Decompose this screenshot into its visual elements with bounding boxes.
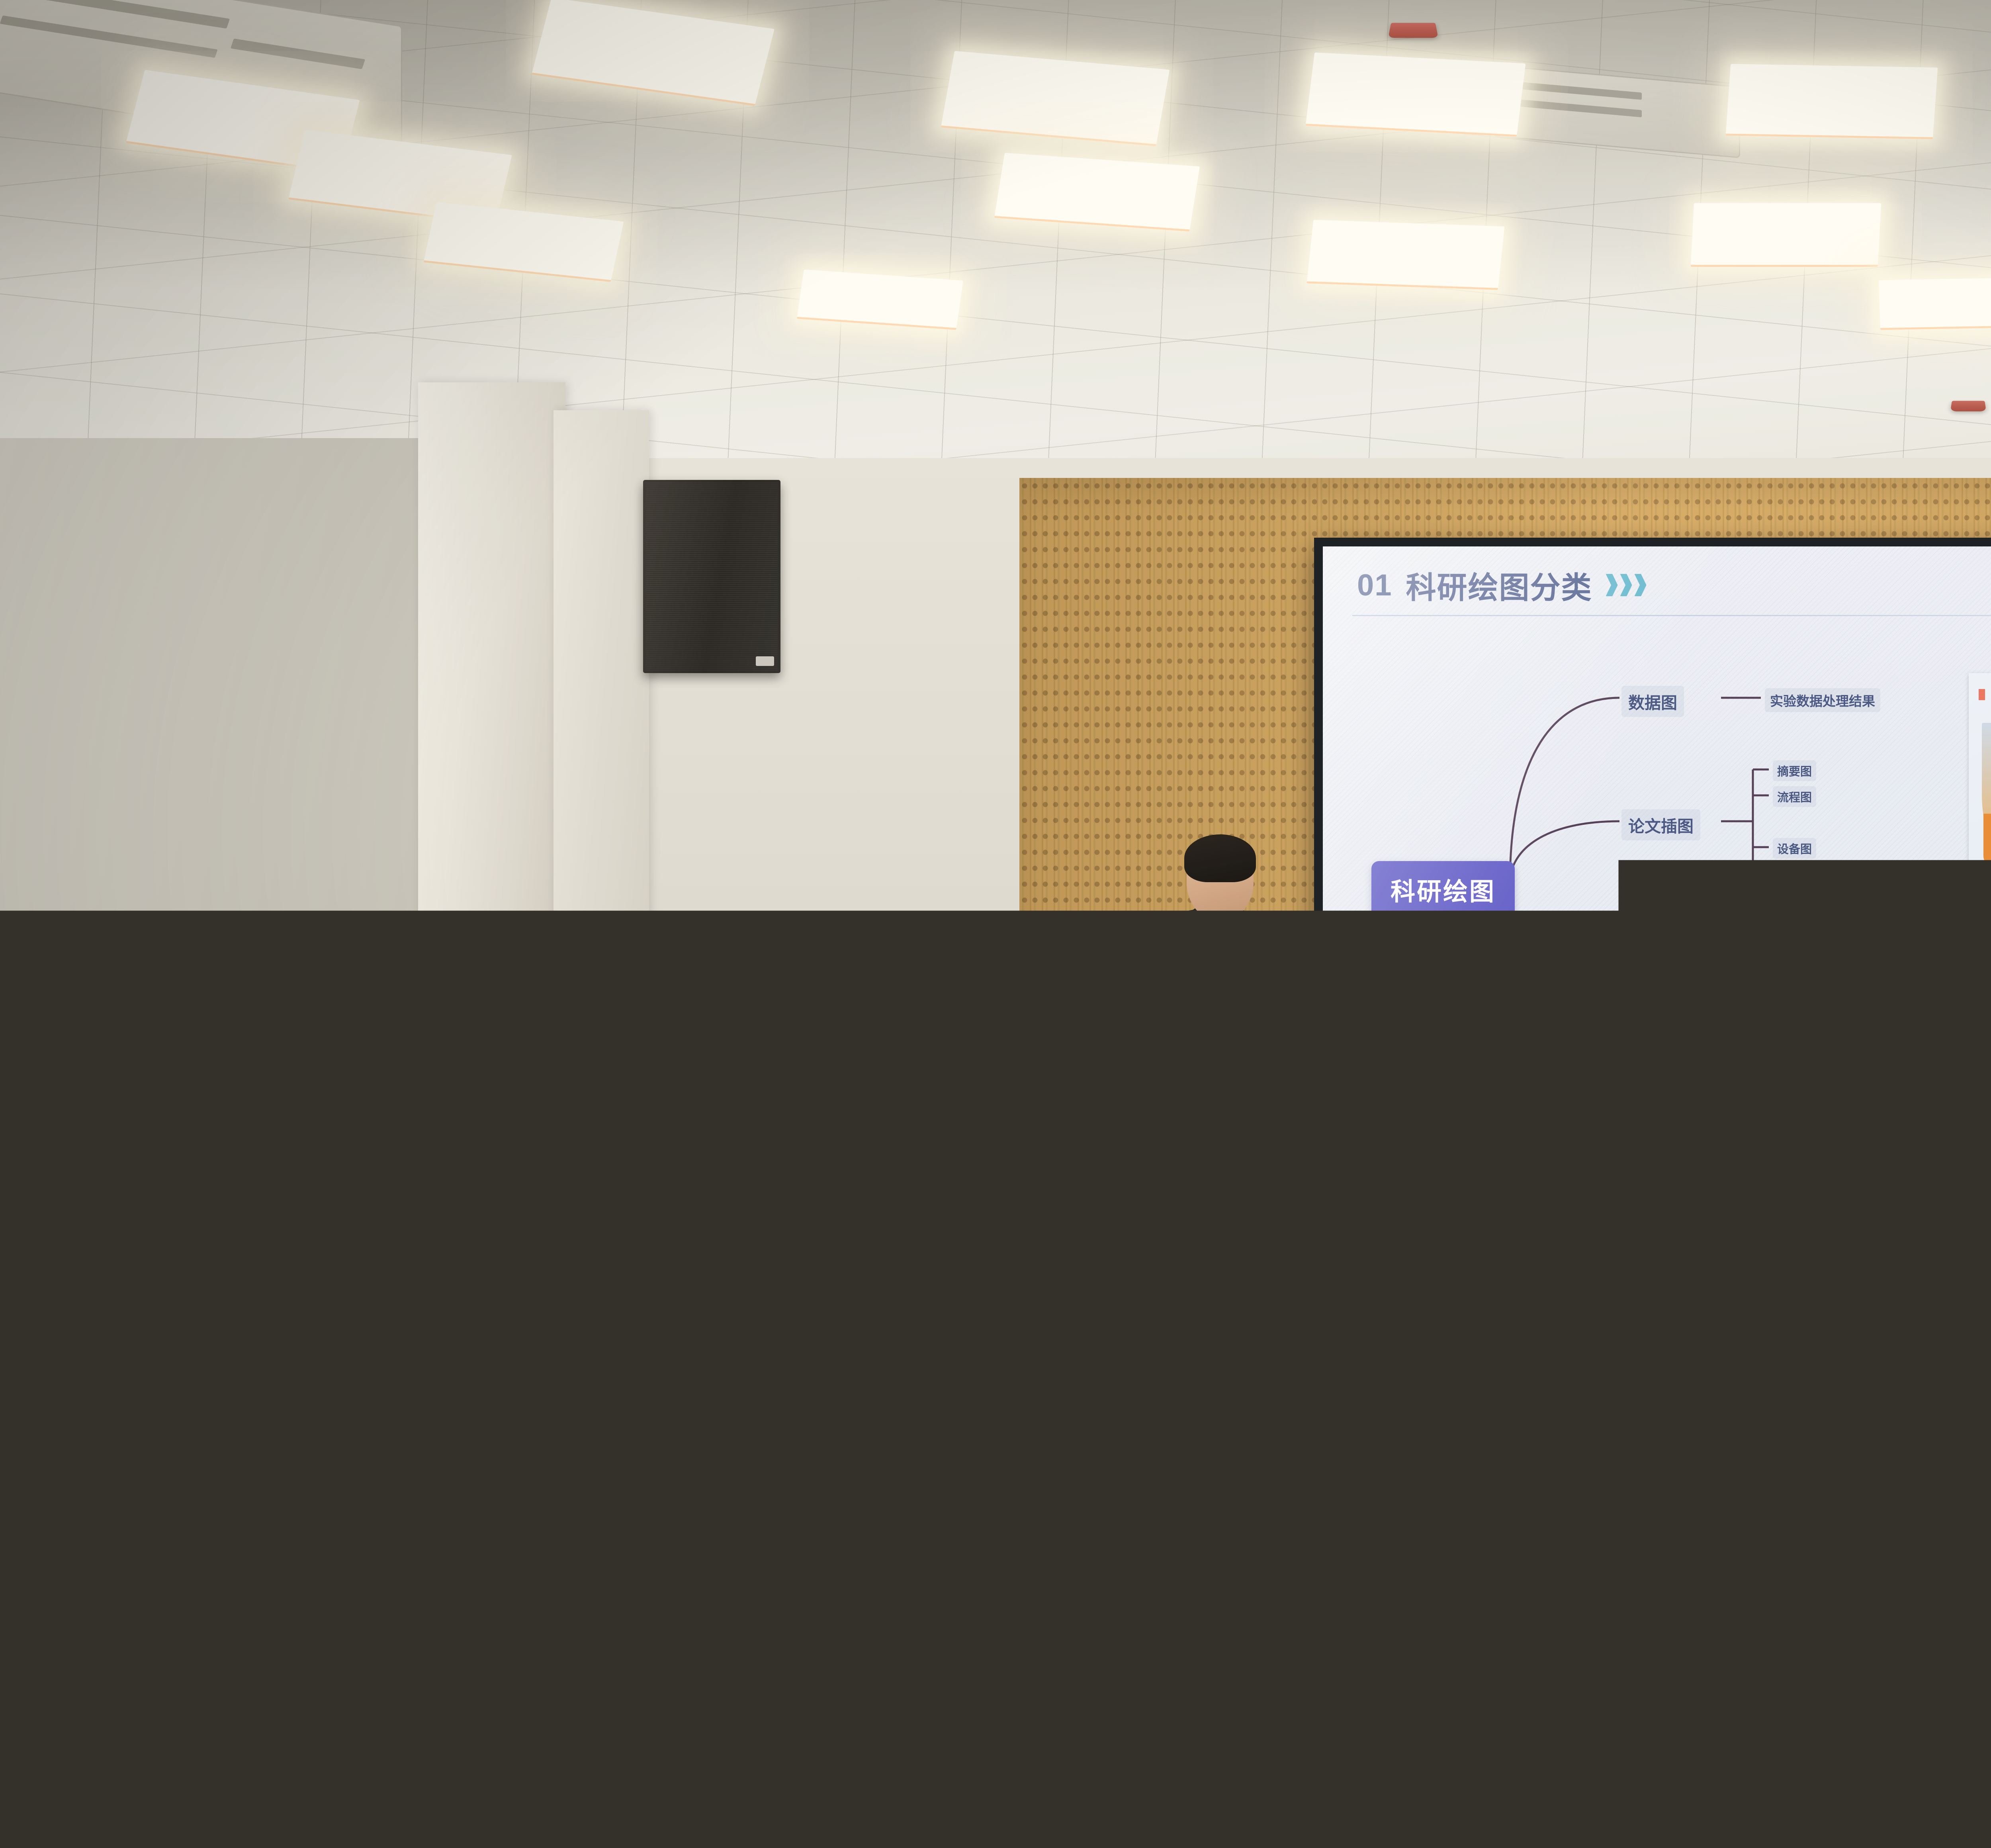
audience-head: [1037, 1088, 1107, 1188]
audience-torso: [1402, 1171, 1541, 1322]
audience-head: [309, 1490, 448, 1661]
mindmap-branch-2: 期刊封面: [1621, 965, 1700, 996]
presenter: [1107, 816, 1330, 1039]
audience-head: [182, 1251, 286, 1398]
audience-head: [36, 1450, 163, 1617]
mindmap-root-node: 科研绘图: [1371, 861, 1515, 918]
mindmap-branch-2-child-2: RSC: [1773, 967, 1806, 985]
audience-head: [1436, 1072, 1507, 1173]
audience-head: [1841, 1120, 1915, 1225]
journal-title-line2: ENERGY: [1964, 945, 1991, 958]
audience-head: [1414, 1322, 1537, 1501]
av-equipment-box-2: [778, 1064, 816, 1085]
speaker-brand-badge: [756, 656, 774, 666]
audience-member-front: [1573, 1362, 1828, 1848]
audience-member-front: [749, 1306, 980, 1744]
mindmap-branch-0: 数据图: [1621, 686, 1684, 717]
audience-member: [876, 1051, 1007, 1290]
mindmap-branch-1-child-1: 流程图: [1773, 786, 1816, 807]
mindmap-leaf-0: 实验数据处理结果: [1765, 688, 1880, 712]
wall-mounted-speaker: [643, 480, 780, 673]
audience-member-front: [0, 1442, 231, 1848]
presenter-hair: [1184, 834, 1256, 882]
mindmap-branch-2-child-1: ACS: [1773, 938, 1806, 955]
mindmap-branch-1-child-0: 摘要图: [1773, 760, 1816, 781]
audience-torso: [1354, 1494, 1601, 1784]
audience-torso: [749, 1474, 980, 1744]
audience-head: [424, 1079, 492, 1175]
audience-head: [1987, 1088, 1991, 1192]
ponytail: [1179, 1565, 1278, 1736]
audience-head: [295, 1119, 362, 1212]
audience-member-khaki: [1266, 1091, 1410, 1346]
audience-member-front: [1354, 1314, 1601, 1784]
mindmap-branch-1-child-2: 设备图: [1773, 838, 1816, 859]
speaker-grille: [646, 483, 778, 670]
audience-head: [804, 1314, 920, 1482]
audience-torso: [0, 1609, 231, 1848]
audience-head: [402, 1227, 510, 1378]
audience-head: [1567, 1124, 1638, 1224]
audience-head: [80, 1055, 147, 1147]
hair-scrunchie: [522, 1517, 575, 1559]
audience-head: [677, 1087, 745, 1183]
audience-head: [783, 1088, 853, 1187]
lecture-hall-scene: 01 科研绘图分类 科研绘图: [0, 0, 1991, 1848]
mindmap-branch-2-child-4: 其他: [1773, 1035, 1805, 1056]
audience-head: [1635, 1370, 1761, 1553]
journal-title-line3: MATERIALS: [1964, 958, 1991, 971]
audience-torso: [876, 1151, 1007, 1290]
audience-torso: [1664, 1199, 1808, 1354]
audience-torso: [1804, 1513, 1991, 1824]
audience-head: [0, 1203, 100, 1342]
audience-member: [1951, 1083, 1991, 1354]
sprinkler-head: [1975, 410, 1985, 430]
audience-head: [1866, 1330, 1991, 1517]
wall-pillar: [418, 382, 565, 1179]
audience-member-front: [239, 1482, 518, 1848]
audience-torso: [1573, 1549, 1828, 1848]
bear-graphic-icon: [796, 1231, 843, 1278]
ceiling-light: [1691, 203, 1881, 267]
ceiling-light: [1879, 278, 1991, 330]
fire-alarm-icon: [1388, 23, 1438, 38]
presenter-jacket-front: [1181, 936, 1252, 1051]
ceiling-light: [994, 153, 1200, 231]
mindmap-branch-2-child-3: NCS: [1773, 1005, 1806, 1022]
ceiling-light: [1726, 64, 1938, 139]
mindmap-branch-1: 论文插图: [1621, 809, 1700, 840]
audience-head: [200, 1071, 263, 1159]
audience-head: [908, 1055, 976, 1153]
sprinkler-head: [1481, 263, 1492, 283]
audience-member: [1402, 1067, 1541, 1322]
ceiling-light: [1306, 53, 1526, 137]
audience-head: [1302, 1096, 1374, 1198]
audience-member-front-ponytail: [1067, 1406, 1370, 1848]
audience-head: [1169, 1116, 1240, 1216]
mindmap-branch-2-child-0: Wiley: [1773, 908, 1812, 925]
ceiling-light: [1307, 220, 1505, 290]
journal-title-line1: ADVANCED: [1964, 932, 1991, 945]
wall-pillar-secondary: [553, 410, 649, 1127]
audience-torso: [239, 1653, 518, 1848]
audience-member-front: [1804, 1322, 1991, 1824]
audience-head: [547, 1112, 616, 1210]
audience-member: [1664, 1091, 1808, 1354]
audience-head: [1700, 1096, 1772, 1199]
thumbnail-schematic-flask: [1969, 673, 1991, 900]
mindmap-branch-1-child-3: 示意图: [1773, 868, 1816, 889]
